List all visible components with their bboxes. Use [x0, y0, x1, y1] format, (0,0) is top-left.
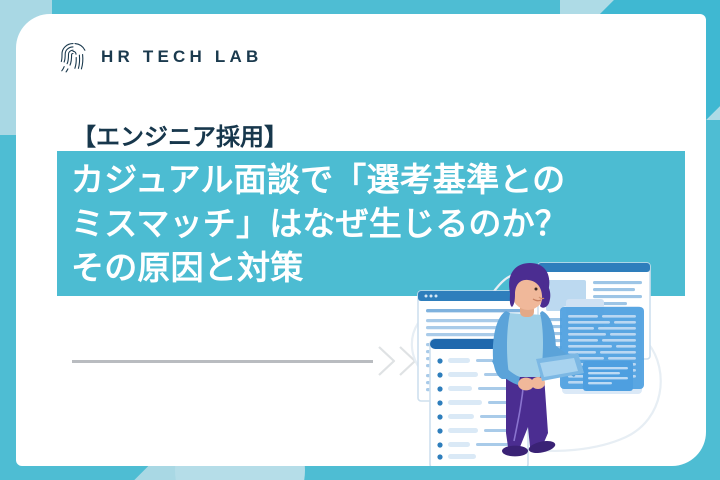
- article-kicker: 【エンジニア採用】: [72, 117, 288, 152]
- document-panel-small: [583, 361, 633, 391]
- content-card: HR TECH LAB 【エンジニア採用】 カジュアル面談で「選考基準との ミス…: [16, 14, 706, 466]
- woman-reviewing-documents-illustration: [402, 251, 702, 466]
- brand-name: HR TECH LAB: [101, 47, 262, 67]
- headline-line-2: ミスマッチ」はなぜ生じるのか？: [57, 202, 685, 246]
- headline-line-3: その原因と対策: [57, 246, 377, 290]
- headline-line-1: カジュアル面談で「選考基準との: [57, 158, 685, 202]
- poster-canvas: HR TECH LAB 【エンジニア採用】 カジュアル面談で「選考基準との ミス…: [0, 0, 720, 480]
- brand-logo[interactable]: HR TECH LAB: [58, 41, 262, 73]
- divider-with-chevrons: [72, 344, 442, 378]
- horizontal-rule: [72, 360, 373, 363]
- fingerprint-icon: [58, 41, 88, 73]
